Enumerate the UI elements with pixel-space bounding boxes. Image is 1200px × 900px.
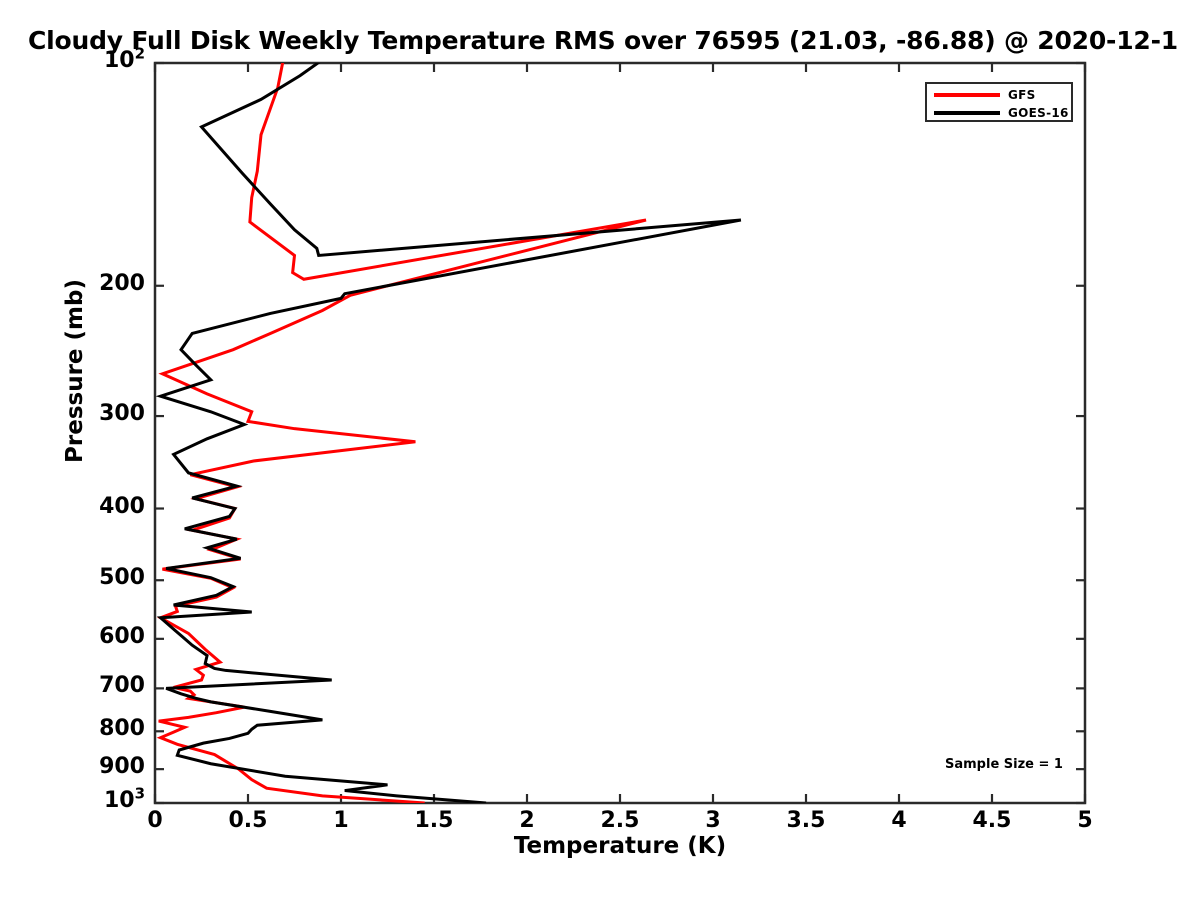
y-tick-label: 300 xyxy=(35,401,145,426)
legend-item-goes16: GOES-16 xyxy=(927,104,1071,122)
y-tick-label: 800 xyxy=(35,716,145,741)
x-tick-label: 4.5 xyxy=(947,808,1037,833)
sample-size-annotation: Sample Size = 1 xyxy=(945,757,1063,772)
y-tick-label: 900 xyxy=(35,754,145,779)
legend-swatch-line-icon xyxy=(934,111,1000,115)
x-tick-label: 2.5 xyxy=(575,808,665,833)
figure-canvas: Cloudy Full Disk Weekly Temperature RMS … xyxy=(0,0,1200,900)
x-tick-label: 3.5 xyxy=(761,808,851,833)
data-series-group xyxy=(159,50,741,803)
axis-ticks xyxy=(155,63,1085,803)
x-tick-label: 3 xyxy=(668,808,758,833)
page-title: Cloudy Full Disk Weekly Temperature RMS … xyxy=(28,28,1200,53)
x-tick-label: 5 xyxy=(1040,808,1130,833)
x-axis-label: Temperature (K) xyxy=(155,833,1085,859)
y-tick-label: 103 xyxy=(35,788,145,813)
legend-label: GFS xyxy=(1008,88,1036,102)
x-tick-label: 1.5 xyxy=(389,808,479,833)
legend-swatch-line-icon xyxy=(934,93,1000,97)
y-tick-label: 102 xyxy=(35,48,145,73)
x-tick-label: 1 xyxy=(296,808,386,833)
axes-frame xyxy=(155,63,1085,803)
y-tick-label: 400 xyxy=(35,494,145,519)
y-tick-label: 500 xyxy=(35,565,145,590)
x-tick-label: 0.5 xyxy=(203,808,293,833)
y-axis-label: Pressure (mb) xyxy=(62,271,88,471)
y-tick-label: 700 xyxy=(35,673,145,698)
y-tick-label: 600 xyxy=(35,624,145,649)
x-tick-label: 2 xyxy=(482,808,572,833)
legend-item-gfs: GFS xyxy=(927,86,1071,104)
x-tick-label: 4 xyxy=(854,808,944,833)
chart-legend[interactable]: GFS GOES-16 xyxy=(925,82,1073,122)
y-tick-label: 200 xyxy=(35,271,145,296)
series-line-goes-16 xyxy=(161,53,741,803)
legend-label: GOES-16 xyxy=(1008,106,1069,120)
